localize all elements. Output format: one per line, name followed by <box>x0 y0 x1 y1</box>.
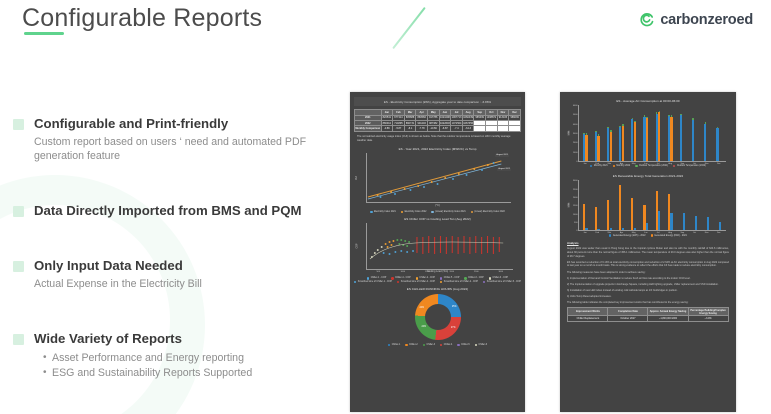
bar-group: Jun <box>643 105 648 161</box>
legend-swatch-icon <box>370 211 372 213</box>
table-cell: -7.4 <box>451 126 463 131</box>
legend-swatch-icon <box>464 277 466 279</box>
analysis-paragraph: The following table indicates the comple… <box>567 301 729 305</box>
legend-label: Generated Energy (kWh) - 2021 <box>654 235 687 237</box>
legend-swatch-icon <box>673 165 675 167</box>
bar <box>597 136 599 161</box>
bar-group: May <box>631 105 636 161</box>
feature-block: Wide Variety of Reports Asset Performanc… <box>13 331 333 382</box>
legend-label: Chiller-2 <box>409 344 418 346</box>
legend-swatch-icon <box>423 344 425 346</box>
legend-swatch-icon <box>489 277 491 279</box>
bar <box>631 198 633 230</box>
y-tick-label: 6000 <box>570 105 578 107</box>
feature-sublist: Asset Performance and Energy reporting E… <box>43 351 333 383</box>
analysis-paragraph: 4) Units Temp Reset adopted increases. <box>567 295 729 299</box>
temperature-marker-icon <box>680 114 682 116</box>
bar-group: Sep <box>680 105 685 161</box>
bar <box>683 213 685 230</box>
x-tick-label: Jul <box>657 163 660 165</box>
temperature-marker-icon <box>622 124 624 126</box>
bullet-square-icon <box>13 261 24 272</box>
x-tick-label: Jun <box>644 232 647 234</box>
legend-label: Chiller-5 <box>461 344 470 346</box>
legend-label: Chiller-3 - COP <box>468 277 484 279</box>
bar <box>658 211 660 230</box>
table-cell <box>486 126 498 131</box>
temperature-marker-icon <box>646 117 648 119</box>
legend-label: Chiller-4 - COP <box>395 277 411 279</box>
legend-item: (Linear) Electricity Index 2022 <box>471 211 505 213</box>
feature-heading: Data Directly Imported from BMS and PQM <box>34 203 301 220</box>
feature-subtext: Actual Expense in the Electricity Bill <box>34 277 333 292</box>
legend-label: Chiller-1 - COP <box>371 277 387 279</box>
legend-item: Chiller-6 - COP <box>489 277 508 279</box>
bar <box>610 132 612 161</box>
legend-swatch-icon <box>651 234 653 236</box>
page-title: Configurable Reports <box>22 4 262 33</box>
table-col-header: Approx. Annual Energy Saving <box>648 307 688 315</box>
table-cell <box>509 126 521 131</box>
table-cell: -6.13 <box>462 126 474 131</box>
bar <box>716 128 718 160</box>
temperature-marker-icon <box>610 130 612 132</box>
bar <box>704 124 706 161</box>
legend-swatch-icon <box>475 344 477 346</box>
legend-swatch-icon <box>440 344 442 346</box>
legend-item: Chiller-2 <box>405 344 417 346</box>
bar-group-container: JanFebMarAprMayJunJulAugSepOctNovDec <box>579 105 725 161</box>
legend-label: Chiller-4 <box>444 344 453 346</box>
bar <box>619 185 621 230</box>
legend-swatch-icon <box>431 211 433 213</box>
x-tick-label: Jan <box>583 163 586 165</box>
analysis-paragraph: 1) Implementation of Demand Control Vent… <box>567 277 729 281</box>
x-tick-label: 1500 <box>425 271 430 273</box>
temperature-marker-icon <box>607 127 609 129</box>
table-row-label: Monthly Comparison <box>355 126 382 131</box>
x-tick-label: Apr <box>620 163 623 165</box>
bar <box>670 213 672 230</box>
legend-swatch-icon <box>367 277 369 279</box>
temperature-marker-icon <box>692 118 694 120</box>
legend-item: Chiller-4 - COP <box>391 277 410 279</box>
feature-subtext: Custom report based on users ‘ need and … <box>34 135 333 164</box>
legend-swatch-icon <box>440 277 442 279</box>
feature-heading: Wide Variety of Reports <box>34 331 182 348</box>
x-tick-label: 1000 <box>400 271 405 273</box>
bar-group: Oct <box>692 180 697 230</box>
legend-item: Chiller-3 - COP <box>464 277 483 279</box>
legend-swatch-icon <box>457 344 459 346</box>
legend-swatch-icon <box>590 165 592 167</box>
improvement-works-table: Improvement WorksCompletion DateApprox. … <box>567 307 728 322</box>
chart-renewable-energy: ES Renewable Energy Total Generation 202… <box>564 174 732 236</box>
table-cell: -5.87 <box>393 126 405 131</box>
bar <box>622 228 624 230</box>
legend-swatch-icon <box>388 344 390 346</box>
chart-title: ES - Year 2021, 2022 Electricity Index (… <box>354 147 521 151</box>
feature-heading: Configurable and Print-friendly <box>34 116 228 133</box>
donut-label: 25% <box>452 306 457 308</box>
legend-swatch-icon <box>405 344 407 346</box>
bar-group: Sep <box>680 180 685 230</box>
legend-label: Chiller-1 <box>392 344 401 346</box>
bar <box>707 217 709 230</box>
x-tick-label: Aug <box>668 163 672 165</box>
bar-group: Dec <box>716 180 721 230</box>
table-cell: -6.87 <box>439 126 451 131</box>
bar <box>692 120 694 161</box>
legend-item: Electricity Index 2021 <box>370 211 396 213</box>
legend-item: Generated Energy (kWh) - 2021 <box>651 234 687 236</box>
table-cell: ~3.0% <box>688 316 728 321</box>
table-cell <box>474 126 486 131</box>
analysis-paragraph: The following measures have been adopted… <box>567 271 729 275</box>
x-tick-label: Oct <box>693 163 696 165</box>
y-axis-label: COP <box>356 244 358 249</box>
legend-item: Chiller-4 <box>440 344 452 346</box>
bar-group-container: JanFebMarAprMayJunJulAugSepOctNovDec <box>579 180 725 230</box>
legend-label: Monthly 2021 <box>594 165 608 167</box>
y-tick-label: 1500 <box>570 205 578 207</box>
legend-item: Smoothed Line of Chiller-5 - COP <box>483 281 521 283</box>
table-header-row: Improvement WorksCompletion DateApprox. … <box>568 307 728 315</box>
legend-swatch-icon <box>635 165 637 167</box>
slide-canvas: Configurable Reports carbonzeroed Config… <box>0 0 771 414</box>
bar <box>634 122 636 160</box>
temperature-marker-icon <box>598 134 600 136</box>
bar <box>634 228 636 230</box>
legend-label: Smoothed Line of Chiller-5 - COP <box>487 281 521 283</box>
x-tick-label: Jan <box>583 232 586 234</box>
legend-swatch-icon <box>471 211 473 213</box>
brand-logo: carbonzeroed <box>638 11 753 28</box>
bar-group: Aug <box>668 105 673 161</box>
temperature-marker-icon <box>668 115 670 117</box>
electricity-consumption-table: JanFebMarAprMayJunJulAugSepOctNovDec 202… <box>354 109 521 132</box>
list-item: Asset Performance and Energy reporting <box>43 351 333 367</box>
donut-label: 24% <box>420 307 425 309</box>
x-tick-label: Oct <box>693 232 696 234</box>
legend-item: Smoothed Line of Chiller-2 - COP <box>440 281 478 283</box>
x-tick-label: Jul <box>657 232 660 234</box>
legend-label: (Linear) Electricity Index 2022 <box>474 211 504 213</box>
table-col-header: Completion Date <box>608 307 648 315</box>
legend-item: Generated Energy (kWh) - 2022 <box>609 234 645 236</box>
donut-label: 24% <box>422 326 427 328</box>
report-preview-right[interactable]: ES - Average AC Consumption at 00:00-06:… <box>560 92 736 412</box>
legend-label: Chiller-2 - COP <box>419 277 435 279</box>
analysis-paragraph: 3) Installation of new LED tubes instead… <box>567 289 729 293</box>
bar-group: Jul <box>656 180 661 230</box>
table-cell: -0.86 <box>381 126 393 131</box>
x-tick-label: Mar <box>608 232 612 234</box>
chart-title: ES - Average AC Consumption at 00:00-06:… <box>564 99 732 103</box>
table-col-header: Percentage Building/Complex Energy Savin… <box>688 307 728 315</box>
y-tick-label: 5000 <box>570 114 578 116</box>
bar-group: Jun <box>643 180 648 230</box>
x-tick-label: May <box>632 232 636 234</box>
bar-group: Jul <box>656 105 661 161</box>
bar <box>607 200 609 230</box>
temperature-marker-icon <box>634 121 636 123</box>
x-tick-label: Feb <box>595 232 599 234</box>
logo-wordmark: carbonzeroed <box>660 12 753 28</box>
legend-item: Outdoor Temperature (2021) <box>635 165 668 167</box>
legend-label: Outdoor Temperature (2021) <box>639 165 668 167</box>
chart-title: ES Chiller COP vs Cooling Load Ton (Aug … <box>354 217 521 221</box>
report-note: The normalized electricity usage index (… <box>357 135 518 143</box>
bar-group: Feb <box>595 180 600 230</box>
legend-label: Smoothed Line of Chiller-1 - COP <box>358 281 392 283</box>
chart-legend: Electricity Index 2021Electricity Index … <box>354 211 521 213</box>
bar <box>595 207 597 230</box>
feature-block: Only Input Data Needed Actual Expense in… <box>13 258 333 291</box>
x-tick-label: Nov <box>705 232 709 234</box>
donut-label: 27% <box>451 327 456 329</box>
chart-title: ES CHILLER RUNNING HOURS (Aug 2022) <box>354 287 521 291</box>
analysis-heading: Analysis <box>567 241 729 245</box>
bar-group: Jan <box>583 180 588 230</box>
legend-item: Chiller-3 <box>423 344 435 346</box>
temperature-marker-icon <box>656 112 658 114</box>
y-tick-label: 3000 <box>570 180 578 182</box>
y-tick-label: 0 <box>570 230 578 232</box>
analysis-paragraph: August 2022 was wetter than usual in Hon… <box>567 247 729 259</box>
bullet-square-icon <box>13 119 24 130</box>
feature-heading: Only Input Data Needed <box>34 258 183 275</box>
x-tick-label: Nov <box>705 163 709 165</box>
legend-item: Chiller-5 - COP <box>440 277 459 279</box>
chart-chiller-cop: ES Chiller COP vs Cooling Load Ton (Aug … <box>354 217 521 283</box>
x-tick-label: Apr <box>620 232 623 234</box>
x-tick-label: Mar <box>608 163 612 165</box>
legend-label: Monthly 2022 <box>616 165 630 167</box>
bar-group: Mar <box>607 105 612 161</box>
y-tick-label: 2000 <box>570 197 578 199</box>
table-cell: -8.1 <box>404 126 416 131</box>
report-banner-title: ES - Electricity Consumption (kWh), Aggr… <box>354 97 521 106</box>
y-tick-label: 0 <box>570 161 578 163</box>
legend-swatch-icon <box>609 234 611 236</box>
report-preview-left[interactable]: ES - Electricity Consumption (kWh), Aggr… <box>350 92 525 412</box>
table-cell: -10.66 <box>427 126 439 131</box>
chart-chiller-running-hours: ES CHILLER RUNNING HOURS (Aug 2022) 25% … <box>354 287 521 346</box>
x-tick-label: Dec <box>717 232 721 234</box>
analysis-paragraph: 2) The implementation of upgrade project… <box>567 283 729 287</box>
legend-label: Smoothed Line of Chiller-2 - COP <box>444 281 478 283</box>
legend-label: Chiller-6 - COP <box>493 277 509 279</box>
chart-title: ES Renewable Energy Total Generation 202… <box>564 174 732 178</box>
chart-electricity-index-vs-temp: ES - Year 2021, 2022 Electricity Index (… <box>354 147 521 213</box>
temperature-marker-icon <box>671 115 673 117</box>
donut-chart: 25% 27% 24% 24% <box>415 294 461 340</box>
legend-label: Chiller-3 <box>426 344 435 346</box>
decorative-green-arc <box>392 7 426 49</box>
analysis-body: August 2022 was wetter than usual in Hon… <box>564 247 732 305</box>
y-tick-label: 3000 <box>570 133 578 135</box>
legend-swatch-icon <box>391 277 393 279</box>
x-tick-label: 500 <box>377 271 380 273</box>
bar-group: Apr <box>619 105 624 161</box>
bar-group: Mar <box>607 180 612 230</box>
bar <box>646 223 648 230</box>
bar <box>597 229 599 230</box>
bar <box>680 115 682 160</box>
legend-label: Generated Energy (kWh) - 2022 <box>613 235 646 237</box>
temperature-marker-icon <box>619 126 621 128</box>
temperature-marker-icon <box>717 127 719 129</box>
x-tick-label: 2500 <box>474 271 479 273</box>
legend-item: Chiller-6 <box>475 344 487 346</box>
table-cell <box>497 126 509 131</box>
table-row: Chiller ReplacementOctober 2017~1,800,00… <box>568 316 728 321</box>
temperature-marker-icon <box>705 122 707 124</box>
legend-item: Smoothed Line of Chiller-4 - COP <box>397 281 435 283</box>
x-tick-label: 2000 <box>449 271 454 273</box>
chart-legend: Monthly 2021Monthly 2022Outdoor Temperat… <box>564 165 732 167</box>
legend-item: Electricity Index 2022 <box>401 211 427 213</box>
legend-item: Chiller-1 <box>388 344 400 346</box>
bar-group: Apr <box>619 180 624 230</box>
y-tick-label: 1000 <box>570 214 578 216</box>
temperature-marker-icon <box>659 111 661 113</box>
legend-swatch-icon <box>440 281 442 283</box>
legend-label: Outdoor Temperature (2022) <box>677 165 706 167</box>
chart-legend: Generated Energy (kWh) - 2022Generated E… <box>564 234 732 236</box>
legend-swatch-icon <box>483 281 485 283</box>
x-tick-label: 3000 <box>498 271 503 273</box>
legend-item: (Linear) Electricity Index 2021 <box>431 211 465 213</box>
bar-group: Nov <box>704 180 709 230</box>
table-cell: October 2017 <box>608 316 648 321</box>
temperature-marker-icon <box>595 131 597 133</box>
list-item: ESG and Sustainability Reports Supported <box>43 366 333 382</box>
bullet-square-icon <box>13 334 24 345</box>
bar <box>585 228 587 230</box>
legend-swatch-icon <box>401 211 403 213</box>
bar-group: May <box>631 180 636 230</box>
y-tick-label: 2000 <box>570 142 578 144</box>
legend-item: Outdoor Temperature (2022) <box>673 165 706 167</box>
bar <box>622 126 624 161</box>
temperature-marker-icon <box>586 133 588 135</box>
y-tick-label: 4000 <box>570 124 578 126</box>
legend-item: Chiller-5 <box>457 344 469 346</box>
legend-swatch-icon <box>354 281 356 283</box>
legend-label: Smoothed Line of Chiller-4 - COP <box>401 281 435 283</box>
legend-swatch-icon <box>613 165 615 167</box>
x-tick-label: Feb <box>595 163 599 165</box>
temperature-marker-icon <box>583 133 585 135</box>
y-tick-label: 500 <box>570 222 578 224</box>
table-cell: Chiller Replacement <box>568 316 608 321</box>
legend-swatch-icon <box>397 281 399 283</box>
legend-label: Electricity Index 2021 <box>374 211 396 213</box>
feature-block: Configurable and Print-friendly Custom r… <box>13 116 333 164</box>
x-axis-label: (°C) <box>354 204 521 207</box>
table-cell: ~1,800,000 kWh <box>648 316 688 321</box>
bar-group: Dec <box>716 105 721 161</box>
feature-block: Data Directly Imported from BMS and PQM <box>13 203 333 220</box>
bar <box>670 117 672 161</box>
legend-item: Monthly 2021 <box>590 165 608 167</box>
chart-average-ac-consumption: ES - Average AC Consumption at 00:00-06:… <box>564 99 732 167</box>
bar <box>658 112 660 160</box>
temperature-marker-icon <box>632 118 634 120</box>
x-tick-label: May <box>632 163 636 165</box>
bar <box>610 228 612 230</box>
y-tick-label: 1000 <box>570 152 578 154</box>
legend-item: Chiller-2 - COP <box>416 277 435 279</box>
bullet-square-icon <box>13 206 24 217</box>
bar-group: Jan <box>583 105 588 161</box>
x-tick-label: Aug <box>668 232 672 234</box>
analysis-paragraph: ES has recorded a reduction of 6.13% at … <box>567 261 729 269</box>
x-tick-label: Dec <box>717 163 721 165</box>
table-cell: -7.78 <box>416 126 428 131</box>
x-tick-label: Sep <box>680 232 684 234</box>
x-tick-label: Jun <box>644 163 647 165</box>
chart-legend: Chiller-1Chiller-2Chiller-3Chiller-4Chil… <box>354 344 521 346</box>
legend-item: Smoothed Line of Chiller-1 - COP <box>354 281 392 283</box>
legend-swatch-icon <box>416 277 418 279</box>
bar-group: Feb <box>595 105 600 161</box>
bar <box>583 204 585 230</box>
legend-item: Monthly 2022 <box>613 165 631 167</box>
table-row: Monthly Comparison-0.86-5.87-8.1-7.78-10… <box>355 126 521 131</box>
bar-group: Oct <box>692 105 697 161</box>
legend-item: Chiller-1 - COP <box>367 277 386 279</box>
chart-legend: Chiller-1 - COPChiller-4 - COPChiller-2 … <box>354 277 521 283</box>
temperature-marker-icon <box>644 115 646 117</box>
bar <box>719 222 721 230</box>
bar-group: Aug <box>668 180 673 230</box>
bar <box>695 216 697 230</box>
bar <box>585 135 587 161</box>
legend-label: Electricity Index 2022 <box>405 211 427 213</box>
table-col-header: Improvement Works <box>568 307 608 315</box>
y-tick-label: 2500 <box>570 189 578 191</box>
legend-label: Chiller-6 <box>478 344 487 346</box>
bar-group: Nov <box>704 105 709 161</box>
x-tick-label: Sep <box>680 163 684 165</box>
spiral-leaf-icon <box>638 11 655 28</box>
title-underline <box>24 32 64 35</box>
legend-label: (Linear) Electricity Index 2021 <box>435 211 465 213</box>
y-axis-label: CUI <box>356 176 358 180</box>
legend-label: Chiller-5 - COP <box>444 277 460 279</box>
bar <box>646 118 648 160</box>
